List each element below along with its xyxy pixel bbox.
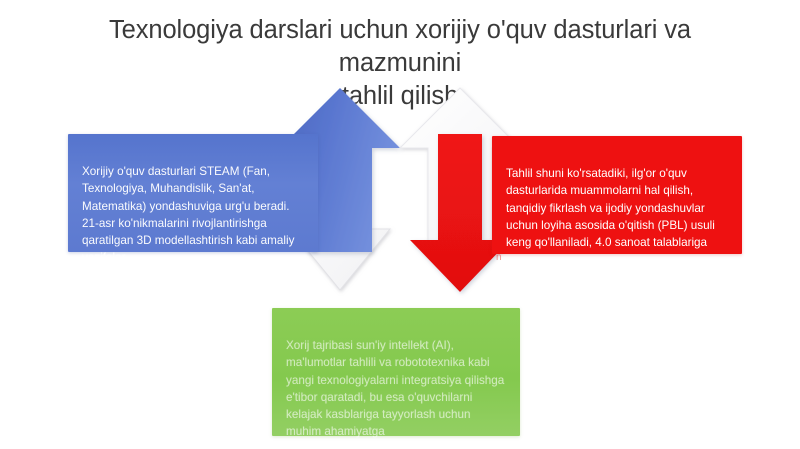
green-content-box[interactable]: Xorij tajribasi sun'iy intellekt (AI), m… (272, 308, 520, 436)
green-box-text: Xorij tajribasi sun'iy intellekt (AI), m… (286, 337, 506, 440)
red-box-overflow-fragment: n (496, 252, 506, 263)
blue-box-text: Xorijiy o'quv dasturlari STEAM (Fan, Tex… (82, 163, 304, 266)
blue-content-box[interactable]: Xorijiy o'quv dasturlari STEAM (Fan, Tex… (68, 134, 318, 252)
red-box-text: Tahlil shuni ko'rsatadiki, ilg'or o'quv … (506, 165, 728, 251)
slide-canvas: Texnologiya darslari uchun xorijiy o'quv… (0, 0, 800, 449)
red-content-box[interactable]: Tahlil shuni ko'rsatadiki, ilg'or o'quv … (492, 136, 742, 254)
